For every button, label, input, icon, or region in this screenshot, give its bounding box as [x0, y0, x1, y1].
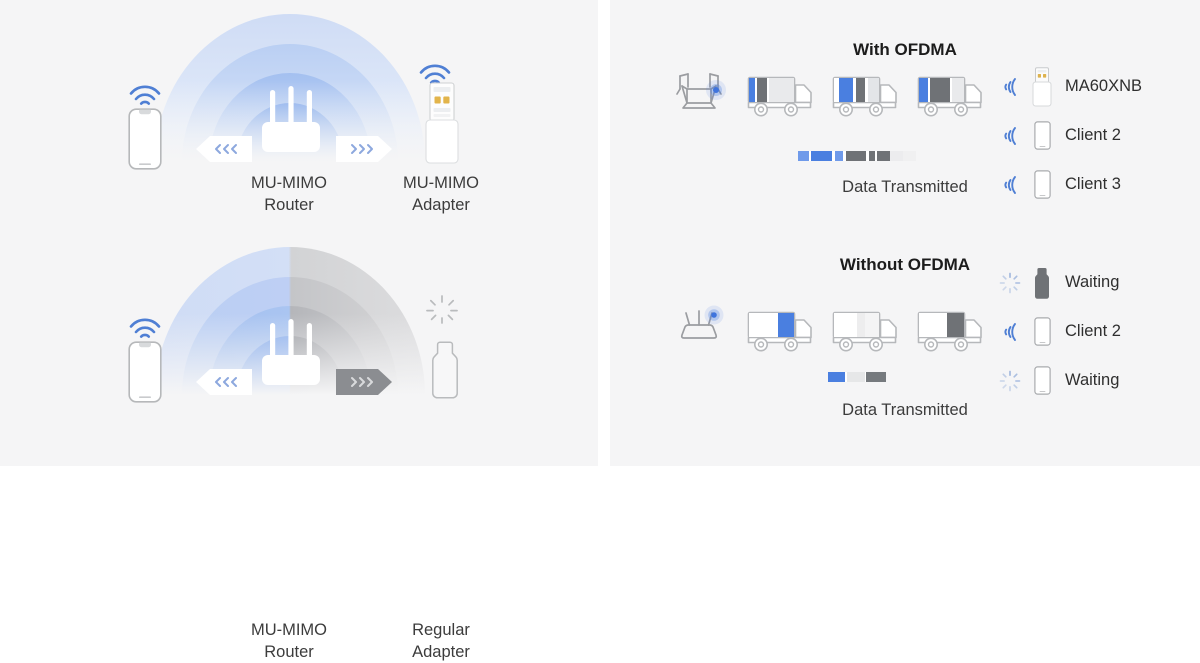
smartphone-icon [1025, 170, 1059, 199]
data-arrow-left [196, 136, 252, 167]
caption-line-1: MU-MIMO [191, 619, 387, 641]
wifi-signal-icon [995, 76, 1025, 98]
caption-line-2: Router [191, 641, 387, 663]
usb-adapter-icon [1025, 67, 1059, 107]
panel-divider [598, 0, 610, 466]
mu-mimo-unsupported-scene: MU-MIMO Router Regular Adapter [0, 233, 598, 466]
data-truck [746, 74, 815, 119]
caption-line-1: Regular [366, 619, 516, 641]
mu-mimo-router-caption: MU-MIMO Router [191, 619, 387, 663]
client-label: Waiting [1065, 371, 1119, 390]
data-truck [831, 309, 900, 354]
mu-mimo-adapter-caption: MU-MIMO Adapter [366, 172, 516, 216]
loading-spinner-icon [995, 272, 1025, 294]
wifi-signal-icon [995, 125, 1025, 147]
data-transmitted-bar [798, 151, 916, 161]
with-ofdma-scene: With OFDMA [610, 0, 1200, 233]
data-truck [916, 309, 985, 354]
usb-adapter-filled-icon [1025, 267, 1059, 299]
ofdma-panel: With OFDMA [610, 0, 1200, 466]
caption-line-1: MU-MIMO [191, 172, 387, 194]
truck-cargo-fill [834, 313, 879, 337]
client-row: Waiting [995, 356, 1121, 405]
smartphone-icon [128, 108, 162, 175]
smartphone-icon [1025, 317, 1059, 346]
truck-cargo-fill [749, 313, 794, 337]
client-row: MA60XNB [995, 62, 1142, 111]
regular-adapter-caption: Regular Adapter [366, 619, 516, 663]
without-ofdma-convoy [668, 305, 985, 358]
mu-mimo-usb-adapter-icon [424, 82, 460, 169]
client-label: MA60XNB [1065, 77, 1142, 96]
caption-line-2: Router [191, 194, 387, 216]
data-arrow-right-degraded [336, 369, 392, 400]
with-ofdma-convoy [668, 70, 985, 123]
without-ofdma-client-list: Waiting [995, 258, 1121, 405]
wifi-signal-icon [128, 84, 162, 111]
with-ofdma-title: With OFDMA [610, 40, 1200, 60]
no-signal-burst-icon [424, 295, 460, 330]
wifi-signal-icon [995, 174, 1025, 196]
with-ofdma-client-list: MA60XNB [995, 62, 1142, 209]
truck-cargo-fill [919, 78, 964, 102]
mu-mimo-router-icon [252, 315, 330, 393]
infographic-stage: MU-MIMO Router MU-MIMO Adapter [0, 0, 1200, 466]
data-truck [746, 309, 815, 354]
client-row: Client 3 [995, 160, 1142, 209]
mu-mimo-panel: MU-MIMO Router MU-MIMO Adapter [0, 0, 598, 466]
client-label: Waiting [1065, 273, 1119, 292]
truck-cargo-fill [749, 78, 794, 102]
smartphone-icon [128, 341, 162, 408]
without-ofdma-scene: Without OFDMA [610, 233, 1200, 466]
caption-line-1: MU-MIMO [366, 172, 516, 194]
client-label: Client 2 [1065, 322, 1121, 341]
loading-spinner-icon [995, 370, 1025, 392]
mu-mimo-supported-scene: MU-MIMO Router MU-MIMO Adapter [0, 0, 598, 233]
data-truck [916, 74, 985, 119]
smartphone-icon [1025, 121, 1059, 150]
mu-mimo-router-caption: MU-MIMO Router [191, 172, 387, 216]
client-label: Client 2 [1065, 126, 1121, 145]
regular-usb-adapter-icon [428, 341, 462, 404]
data-transmitted-bar [828, 372, 886, 382]
client-row: Waiting [995, 258, 1121, 307]
caption-line-2: Adapter [366, 194, 516, 216]
truck-cargo-fill [834, 78, 879, 102]
data-truck [831, 74, 900, 119]
classic-router-icon [668, 305, 730, 358]
wifi-signal-icon [995, 321, 1025, 343]
smartphone-icon [1025, 366, 1059, 395]
data-arrow-right [336, 136, 392, 167]
data-arrow-left [196, 369, 252, 400]
client-row: Client 2 [995, 307, 1121, 356]
client-row: Client 2 [995, 111, 1142, 160]
mu-mimo-router-icon [252, 82, 330, 160]
wifi-signal-icon [128, 317, 162, 344]
wifi6-router-icon [668, 70, 730, 123]
client-label: Client 3 [1065, 175, 1121, 194]
truck-cargo-fill [919, 313, 964, 337]
caption-line-2: Adapter [366, 641, 516, 663]
